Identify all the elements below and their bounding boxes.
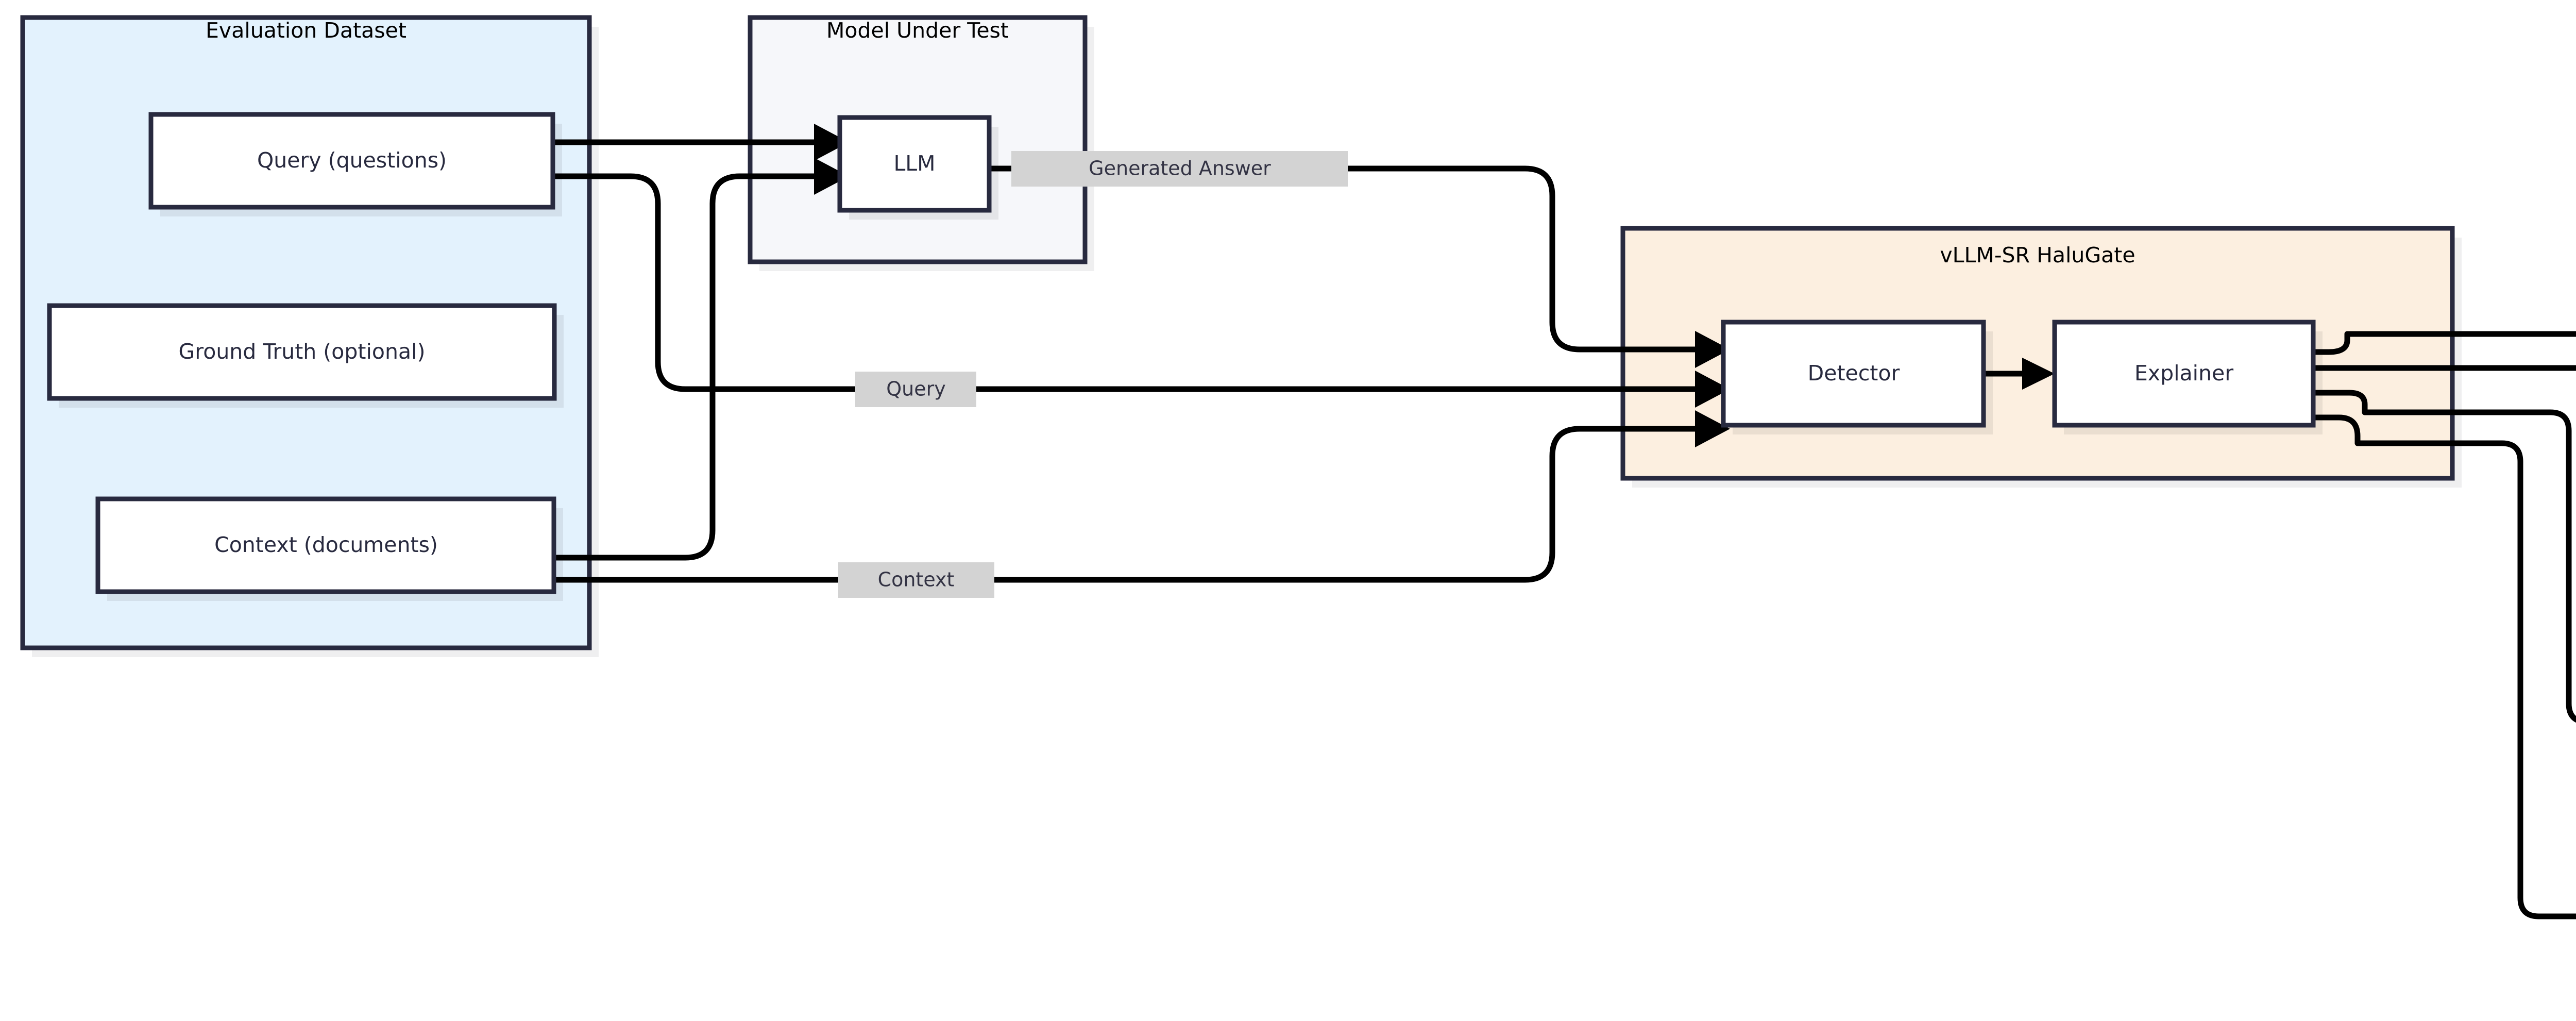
edge-label-layer: Generated Answer Query Context [0,0,2576,1021]
edge-label-context: Context [838,562,994,598]
flowchart-canvas: Evaluation Dataset Model Under Test vLLM… [0,0,2576,1021]
edge-label-generated-answer: Generated Answer [1011,151,1348,187]
edge-label-text-context: Context [878,568,955,591]
edge-label-text-generated-answer: Generated Answer [1089,157,1271,180]
edge-label-text-query: Query [886,378,945,400]
edge-label-query: Query [855,372,976,407]
